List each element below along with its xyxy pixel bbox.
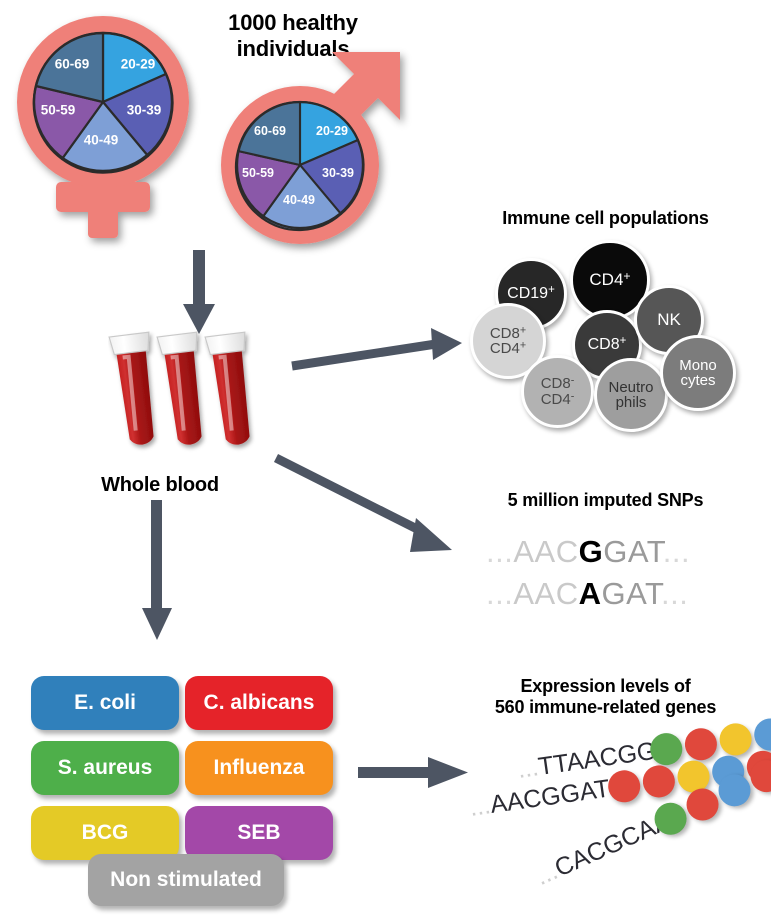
immune-bubble-cd4-positive[interactable]: CD4+ <box>570 240 650 320</box>
immune-bubble-label: CD8+CD4+ <box>490 326 526 357</box>
stimulus-label: S. aureus <box>58 756 153 780</box>
whole-blood-tubes <box>108 330 258 465</box>
immune-bubble-nk-cells[interactable]: NK <box>634 285 704 355</box>
whole-blood-label: Whole blood <box>60 474 260 498</box>
stimulus-seb[interactable]: SEB <box>185 806 333 860</box>
figure-root: 1000 healthy individuals 20-29 <box>0 0 771 922</box>
female-symbol: 20-29 30-39 40-49 50-59 60-69 <box>0 4 210 244</box>
immune-bubble-label: CD19+ <box>507 286 555 302</box>
immune-bubble-label: CD8+ <box>588 337 627 353</box>
immune-bubble-monocytes[interactable]: Monocytes <box>660 335 736 411</box>
expression-section-title: Expression levels of 560 immune-related … <box>440 676 771 718</box>
stimulus-label: SEB <box>237 821 280 845</box>
immune-bubble-cd8-cd4-double-negative[interactable]: CD8-CD4- <box>521 355 594 428</box>
snp-suffix-dots: ... <box>661 576 688 611</box>
snp-prefix-dots: ... <box>486 576 513 611</box>
snp-suffix-dots: ... <box>663 534 690 569</box>
stimulus-s-aureus[interactable]: S. aureus <box>31 741 179 795</box>
arrow-blood-to-immune <box>288 322 468 382</box>
immune-bubble-label: CD8-CD4- <box>541 376 575 407</box>
stimulus-label: Influenza <box>213 756 304 780</box>
expression-title-line-2: 560 immune-related genes <box>440 697 771 718</box>
snp-highlight-base: G <box>579 534 604 569</box>
dna-bead <box>641 763 677 799</box>
snp-sequence-row-1: ...AACGGAT... <box>486 534 690 570</box>
snp-after-bases: GAT <box>601 576 661 611</box>
immune-bubble-cd8-cd4-double-positive[interactable]: CD8+CD4+ <box>470 303 546 379</box>
snp-prefix-dots: ... <box>486 534 513 569</box>
dna-bead <box>606 768 642 804</box>
stimulus-label: BCG <box>82 821 129 845</box>
dna-bead <box>683 726 719 762</box>
snp-before-bases: AAC <box>513 576 578 611</box>
stimulus-influenza[interactable]: Influenza <box>185 741 333 795</box>
stimulus-c-albicans[interactable]: C. albicans <box>185 676 333 730</box>
snp-before-bases: AAC <box>513 534 578 569</box>
snp-highlight-base: A <box>579 576 602 611</box>
stimulus-label: E. coli <box>74 691 136 715</box>
immune-bubble-label: Monocytes <box>679 358 717 389</box>
stimulus-label: C. albicans <box>204 691 315 715</box>
stimulus-bcg[interactable]: BCG <box>31 806 179 860</box>
arrow-cohort-to-blood <box>170 250 230 340</box>
stimulus-label: Non stimulated <box>110 868 262 892</box>
immune-bubble-cd8-positive[interactable]: CD8+ <box>572 310 642 380</box>
immune-bubble-cd19-positive[interactable]: CD19+ <box>495 258 567 330</box>
snps-section-title: 5 million imputed SNPs <box>440 490 771 511</box>
snp-sequence-row-2: ...AACAGAT... <box>486 576 688 612</box>
stimulus-e-coli[interactable]: E. coli <box>31 676 179 730</box>
dna-bead <box>752 716 771 752</box>
immune-bubble-label: Neutrophils <box>608 380 653 411</box>
immune-bubble-neutrophils[interactable]: Neutrophils <box>594 358 668 432</box>
immune-bubble-label: CD4+ <box>589 271 630 288</box>
immune-bubble-label: NK <box>657 311 681 328</box>
dna-bases: AACGGAT <box>488 774 611 818</box>
arrow-blood-to-stimuli <box>128 500 188 645</box>
expression-title-line-1: Expression levels of <box>440 676 771 697</box>
cohort-title-line-1: 1000 healthy <box>178 10 408 36</box>
dna-bases: TTAACGG <box>536 737 658 781</box>
snp-after-bases: GAT <box>603 534 663 569</box>
arrow-stimuli-to-expression <box>358 752 480 798</box>
stimulus-non-stimulated[interactable]: Non stimulated <box>88 854 284 906</box>
male-symbol: 20-29 30-39 40-49 50-59 60-69 <box>204 34 424 254</box>
dna-bead <box>718 721 754 757</box>
immune-section-title: Immune cell populations <box>440 208 771 229</box>
